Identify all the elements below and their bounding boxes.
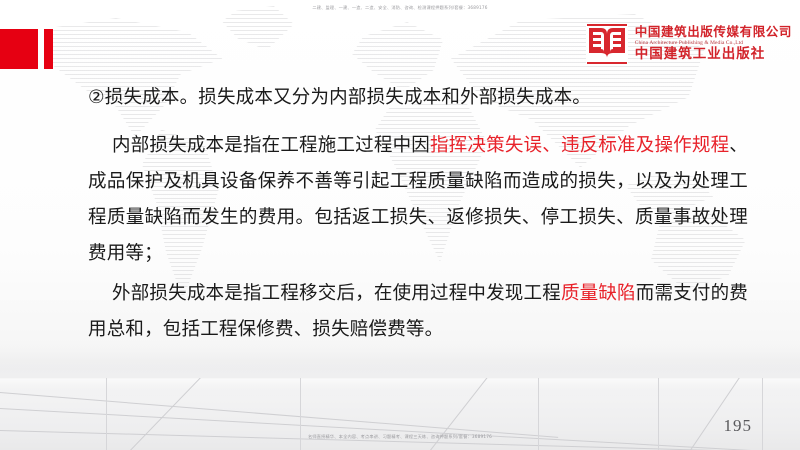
publisher-emblem-icon: [585, 22, 629, 66]
body-text: ②损失成本。损失成本又分为内部损失成本和外部损失成本。: [88, 87, 591, 108]
floor-depth-line: [0, 408, 800, 450]
accent-red-bar: [44, 29, 53, 69]
floor-highlight-band: [0, 378, 800, 398]
publisher-logo: 中国建筑出版传媒有限公司 China Architecture Publishi…: [585, 22, 792, 66]
paragraph-external-loss-cost: 外部损失成本是指工程移交后，在使用过程中发现工程质量缺陷而需支付的费用总和，包括…: [88, 276, 748, 348]
header-watermark-text: 二建、监理、一建、一造、二造、安全、消防、咨询、检测课程押题系列/套餐：3689…: [0, 4, 800, 12]
publisher-press-cn: 中国建筑工业出版社: [635, 48, 792, 62]
footer-watermark-text: 名师直授精华、本全内容、考点串讲、习题精考、课程三天练、咨询押题系列/套餐：36…: [0, 433, 800, 441]
presentation-slide: 二建、监理、一建、一造、二造、安全、消防、咨询、检测课程押题系列/套餐：3689…: [0, 0, 800, 450]
accent-red-block: [0, 29, 38, 69]
paragraph-internal-loss-cost: 内部损失成本是指在工程施工过程中因指挥决策失误、违反标准及操作规程、成品保护及机…: [88, 128, 748, 272]
map-continent-greenland: [222, 6, 294, 54]
highlighted-text: 质量缺陷: [561, 283, 636, 304]
highlighted-text: 指挥决策失误、违反标准及操作规程: [430, 135, 729, 156]
slide-body: ②损失成本。损失成本又分为内部损失成本和外部损失成本。 内部损失成本是指在工程施…: [88, 80, 748, 348]
page-number: 195: [724, 416, 753, 436]
paragraph-loss-cost-intro: ②损失成本。损失成本又分为内部损失成本和外部损失成本。: [88, 80, 748, 116]
floor-depth-line: [0, 392, 558, 438]
publisher-company-cn: 中国建筑出版传媒有限公司: [635, 26, 792, 39]
body-text: 外部损失成本是指工程移交后，在使用过程中发现工程: [112, 283, 561, 304]
body-text: 内部损失成本是指在工程施工过程中因: [112, 135, 430, 156]
publisher-logo-text: 中国建筑出版传媒有限公司 China Architecture Publishi…: [635, 26, 792, 61]
